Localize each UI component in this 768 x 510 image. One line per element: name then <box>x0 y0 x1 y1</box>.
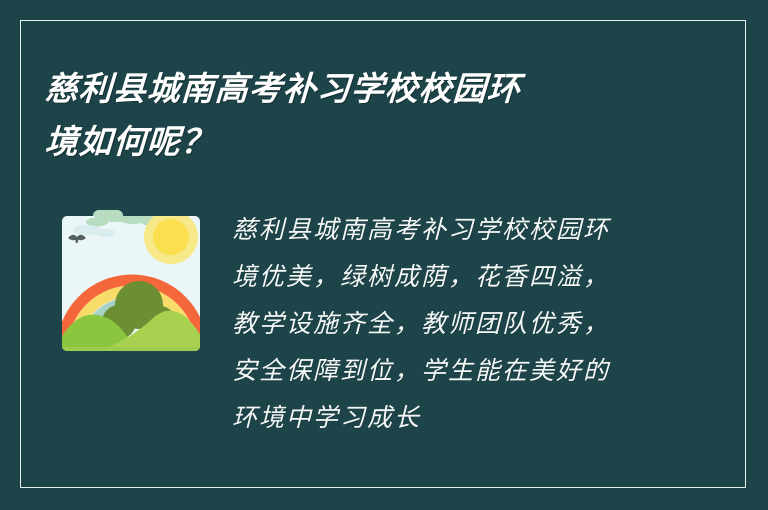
poster-canvas: 慈利县城南高考补习学校校园环 境如何呢？ <box>0 0 768 510</box>
ground-strip <box>57 347 207 357</box>
title-line-1: 慈利县城南高考补习学校校园环 <box>44 62 667 115</box>
title-line-2: 境如何呢？ <box>44 115 667 168</box>
sun-icon <box>144 210 198 264</box>
body-line-2: 境优美，绿树成荫，花香四溢， <box>232 253 657 300</box>
illustration-svg <box>57 200 207 357</box>
body-paragraph: 慈利县城南高考补习学校校园环 境优美，绿树成荫，花香四溢， 教学设施齐全，教师团… <box>232 206 657 441</box>
rainbow-landscape-illustration <box>57 200 207 357</box>
body-line-3: 教学设施齐全，教师团队优秀， <box>232 300 657 347</box>
body-line-1: 慈利县城南高考补习学校校园环 <box>232 206 657 253</box>
page-title: 慈利县城南高考补习学校校园环 境如何呢？ <box>45 62 665 168</box>
body-line-4: 安全保障到位，学生能在美好的 <box>232 347 657 394</box>
sky-card <box>57 200 207 357</box>
body-line-5: 环境中学习成长 <box>232 394 657 441</box>
